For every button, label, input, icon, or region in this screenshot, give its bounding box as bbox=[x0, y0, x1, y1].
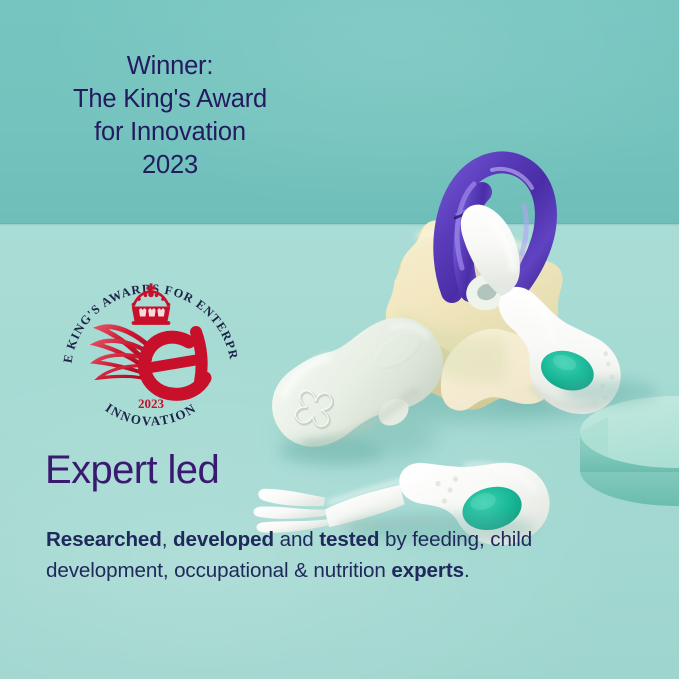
page-headline: Expert led bbox=[45, 446, 219, 494]
body-copy-text: Researched, developed and tested by feed… bbox=[46, 528, 532, 582]
emblem-e-mark bbox=[95, 327, 205, 394]
body-copy: Researched, developed and tested by feed… bbox=[46, 525, 606, 586]
emblem-year: 2023 bbox=[138, 396, 165, 411]
award-heading: Winner: The King's Award for Innovation … bbox=[0, 50, 340, 182]
product-marketing-image: Winner: The King's Award for Innovation … bbox=[0, 0, 679, 679]
kings-awards-emblem: THE KING'S AWARDS FOR ENTERPRISE bbox=[56, 256, 246, 446]
